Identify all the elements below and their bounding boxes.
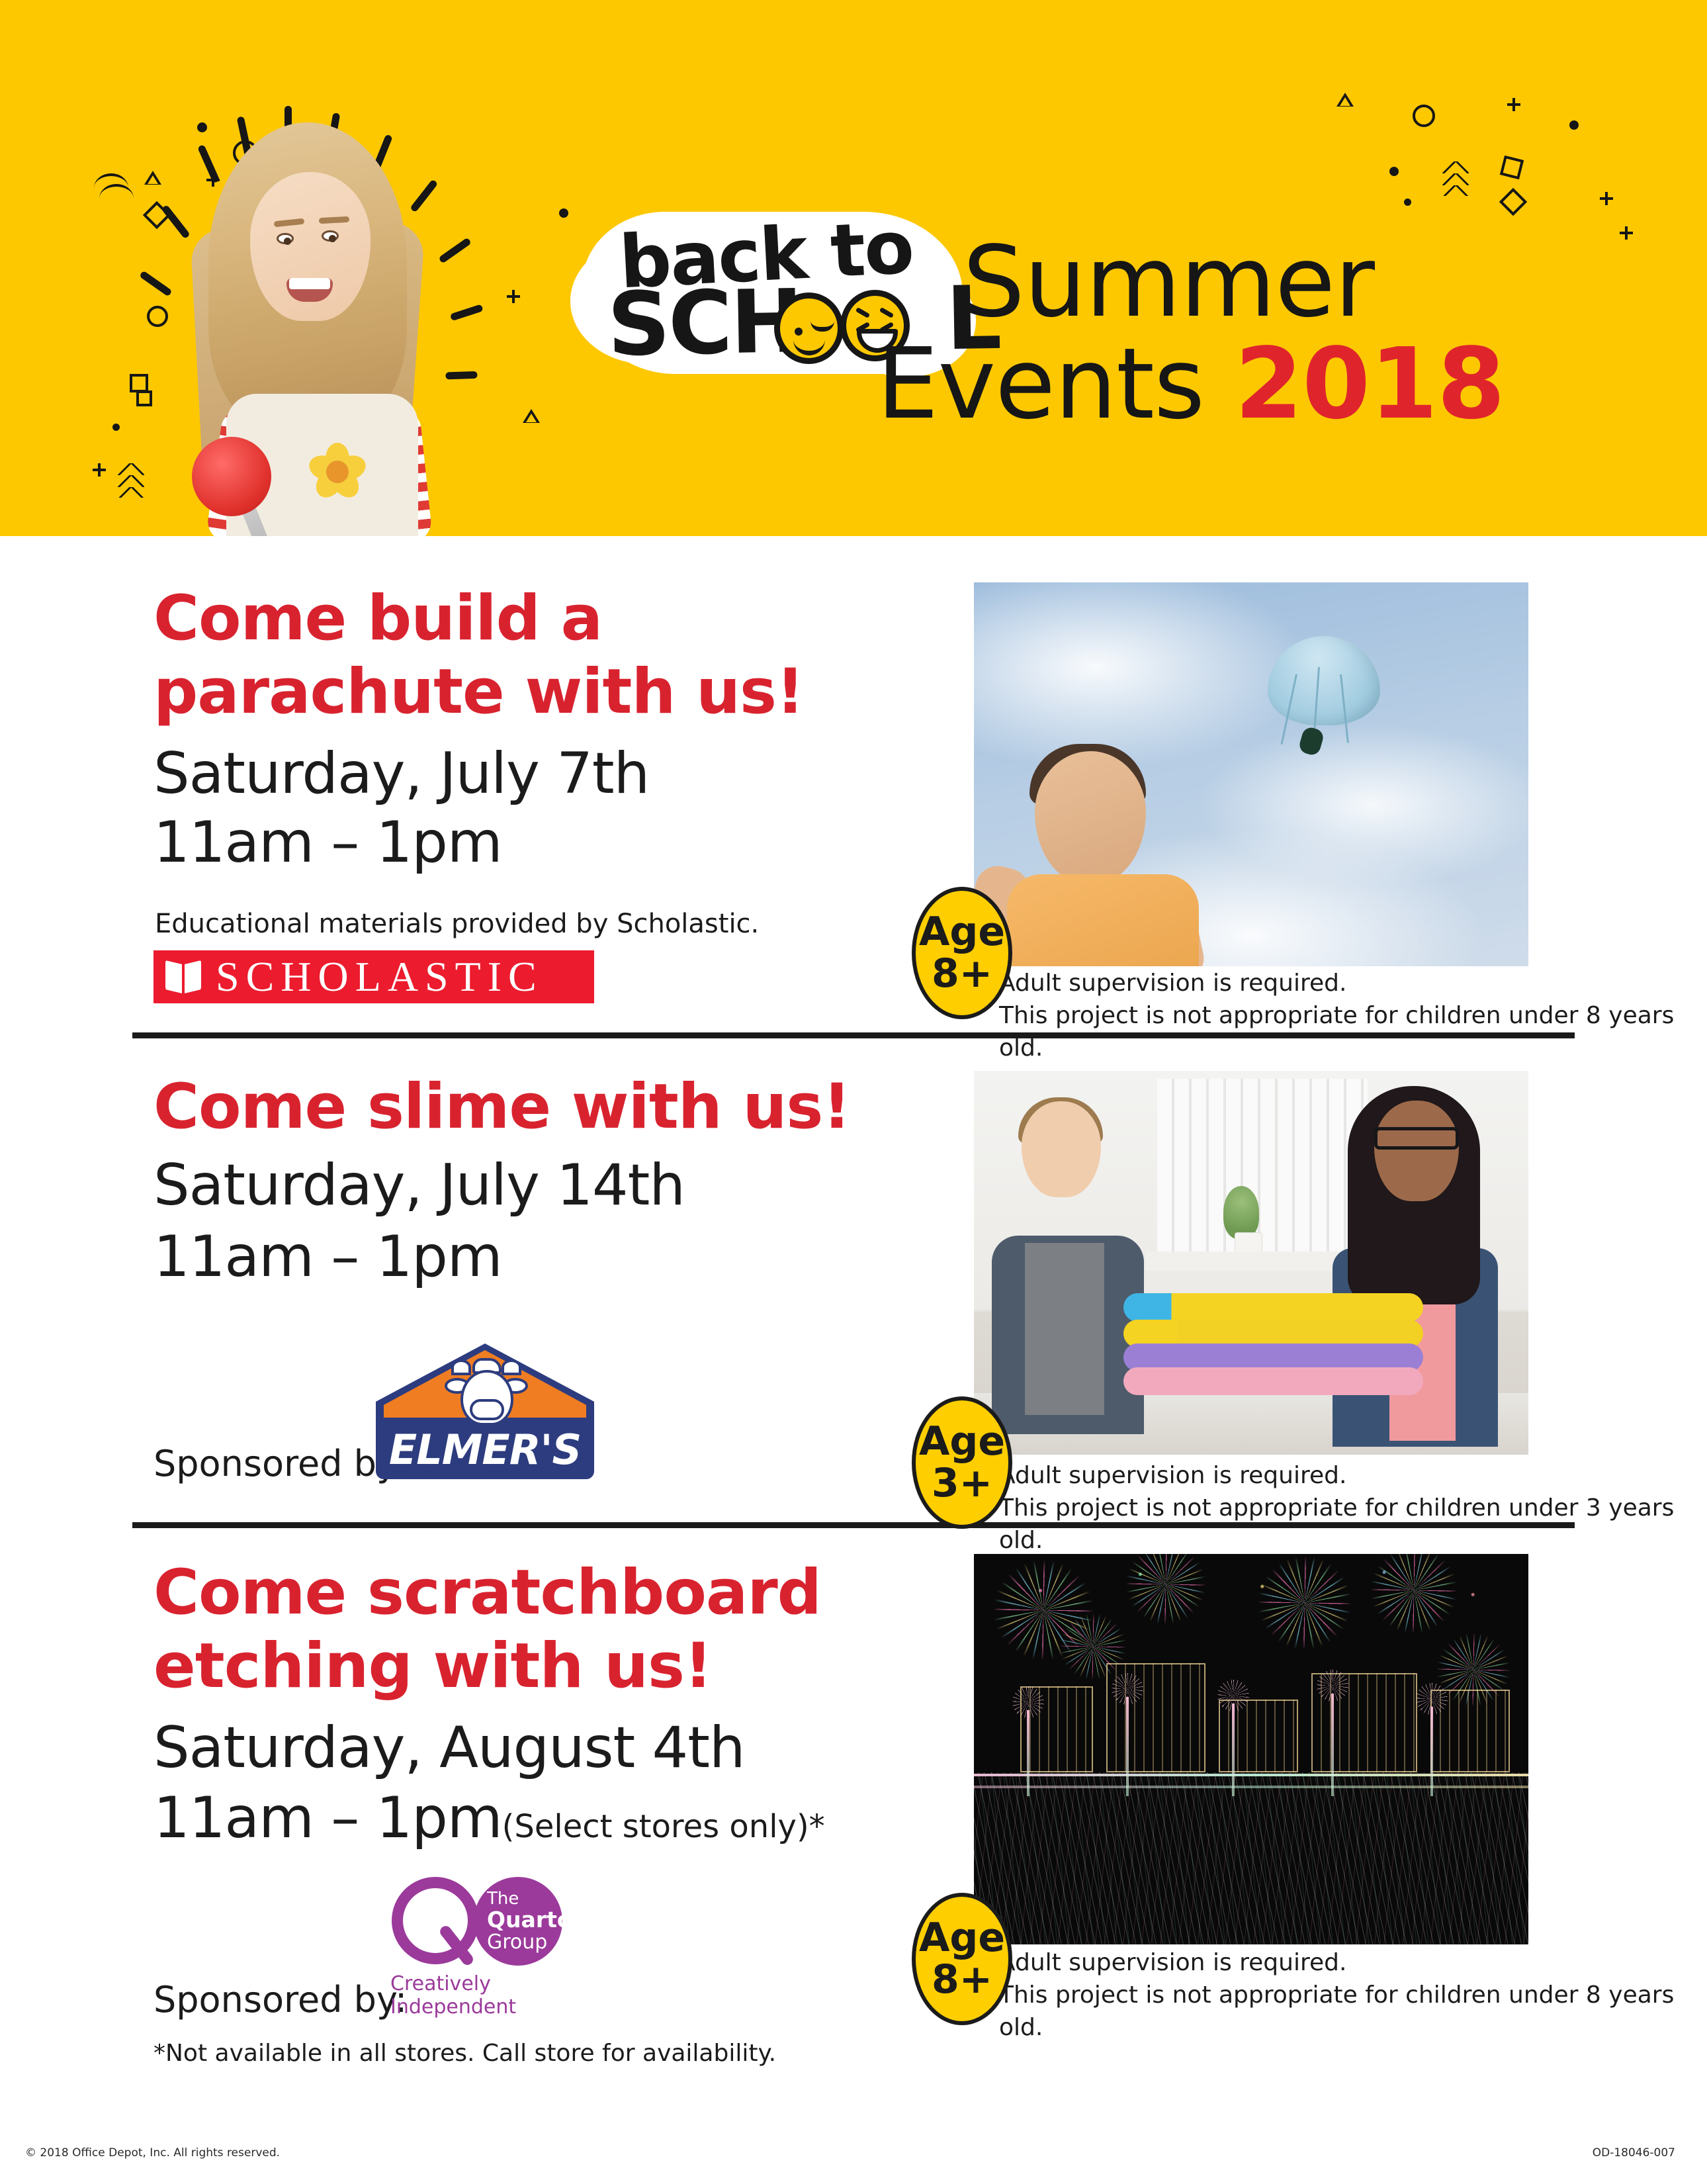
- availability-fineprint: *Not available in all stores. Call store…: [153, 2040, 776, 2067]
- boy-face: [1035, 751, 1146, 884]
- event-time-scratchboard: 11am – 1pm(Select stores only)*: [153, 1784, 825, 1852]
- disclaimer-parachute: Adult supervision is required. This proj…: [999, 968, 1707, 1065]
- parachute-canopy: [1268, 636, 1380, 725]
- age-badge-slime: Age 3+: [912, 1396, 1012, 1529]
- heading-line-1: Come build a: [153, 582, 914, 656]
- parachute-payload: [1298, 726, 1326, 757]
- heading-line-2: etching with us!: [153, 1630, 947, 1704]
- section-divider-2: [132, 1522, 1575, 1528]
- age-label: Age: [919, 911, 1005, 953]
- slime-photo: [974, 1071, 1528, 1455]
- event-time-parachute: 11am – 1pm: [153, 809, 502, 877]
- quarto-name-line3: Group: [487, 1932, 547, 1953]
- event-date-slime: Saturday, July 14th: [153, 1152, 685, 1220]
- elmers-wordmark: ELMER'S: [376, 1426, 594, 1474]
- disclaimer-slime: Adult supervision is required. This proj…: [999, 1460, 1707, 1557]
- event-time-slime: 11am – 1pm: [153, 1223, 502, 1291]
- quarto-name-line1: The: [487, 1889, 519, 1908]
- elmers-logo: ELMER'S: [376, 1343, 594, 1479]
- disclaimer-scratchboard: Adult supervision is required. This proj…: [999, 1947, 1707, 2044]
- open-book-icon: [165, 960, 201, 993]
- event-section-scratchboard: Come scratchboard etching with us! Satur…: [0, 0, 1707, 390]
- boy-holding-slime: [985, 1101, 1151, 1455]
- age-value: 8+: [932, 1959, 992, 2001]
- time-value: 11am – 1pm: [153, 1785, 502, 1851]
- sponsored-by-label-scratchboard: Sponsored by:: [153, 1979, 407, 2021]
- event-date-parachute: Saturday, July 7th: [153, 740, 649, 808]
- scholastic-wordmark: SCHOLASTIC: [216, 956, 543, 998]
- age-value: 8+: [932, 953, 992, 995]
- section-divider-1: [132, 1032, 1575, 1038]
- event-heading-parachute: Come build a parachute with us!: [153, 582, 914, 729]
- event-heading-slime: Come slime with us!: [153, 1071, 914, 1144]
- disclaimer-line-1: Adult supervision is required.: [999, 1460, 1707, 1492]
- scratchboard-photo: [974, 1554, 1528, 1944]
- age-value: 3+: [932, 1463, 992, 1504]
- stretched-slime: [1123, 1293, 1423, 1393]
- age-badge-parachute: Age 8+: [912, 887, 1012, 1019]
- age-badge-scratchboard: Age 8+: [912, 1893, 1012, 2025]
- eyeglasses-icon: [1374, 1127, 1459, 1150]
- quarto-name-line2: Quarto: [487, 1908, 572, 1932]
- event-heading-scratchboard: Come scratchboard etching with us!: [153, 1557, 947, 1704]
- copyright-text: © 2018 Office Depot, Inc. All rights res…: [25, 2146, 280, 2160]
- quarto-group-logo: The Quarto Group Creatively Independent: [389, 1873, 588, 1979]
- poster-page: back to SCHOOL Summer Events 2018: [0, 0, 1707, 2184]
- heading-line-1: Come slime with us!: [153, 1071, 914, 1144]
- heading-line-1: Come scratchboard: [153, 1557, 947, 1630]
- heading-line-2: parachute with us!: [153, 656, 914, 729]
- disclaimer-line-2: This project is not appropriate for chil…: [999, 1979, 1707, 2044]
- scratch-grass-texture: [974, 1772, 1528, 1944]
- quarto-tagline: Creatively Independent: [390, 1972, 588, 2019]
- girl-holding-slime: [1329, 1086, 1517, 1455]
- scholastic-logo: SCHOLASTIC: [153, 950, 594, 1003]
- parachute-photo: [974, 582, 1528, 966]
- disclaimer-line-1: Adult supervision is required.: [999, 968, 1707, 1000]
- potted-plant: [1223, 1186, 1259, 1239]
- disclaimer-line-1: Adult supervision is required.: [999, 1947, 1707, 1979]
- age-label: Age: [919, 1421, 1005, 1463]
- sponsored-by-label-slime: Sponsored by:: [153, 1443, 407, 1484]
- document-code: OD-18046-007: [1593, 2146, 1675, 2160]
- age-label: Age: [919, 1917, 1005, 1959]
- time-suffix: (Select stores only)*: [502, 1808, 825, 1845]
- event-note-parachute: Educational materials provided by Schola…: [155, 907, 759, 941]
- elmers-bull-mascot-icon: [447, 1358, 525, 1430]
- event-date-scratchboard: Saturday, August 4th: [153, 1714, 744, 1782]
